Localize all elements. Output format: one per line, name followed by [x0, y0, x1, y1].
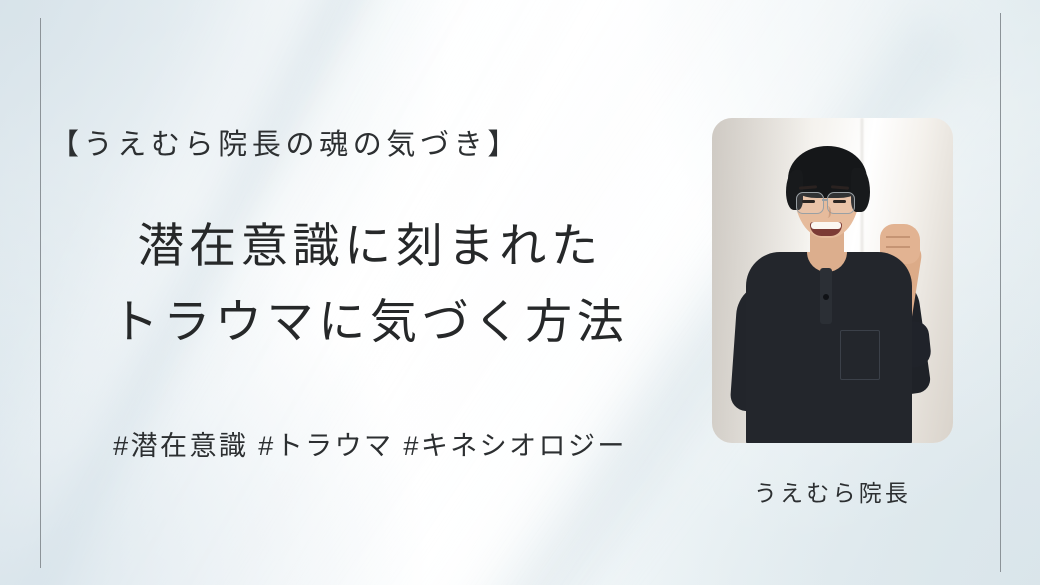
hashtag-line: #潜在意識 #トラウマ #キネシオロジー: [50, 424, 690, 463]
person-fist-crease-2: [886, 246, 910, 248]
promo-banner: 【うえむら院長の魂の気づき】 潜在意識に刻まれた トラウマに気づく方法 #潜在意…: [0, 0, 1040, 585]
glasses-right-lens-icon: [827, 192, 855, 214]
main-title: 潜在意識に刻まれた トラウマに気づく方法: [50, 208, 690, 360]
left-vertical-rule: [40, 18, 41, 568]
person-teeth: [811, 222, 841, 229]
person-left-eye: [802, 200, 815, 203]
person-shirt-pocket: [840, 330, 880, 380]
person-fist-crease-1: [886, 236, 910, 238]
eyebrow-title: 【うえむら院長の魂の気づき】: [50, 128, 521, 163]
person-figure: [712, 118, 953, 443]
glasses-left-lens-icon: [796, 192, 824, 214]
person-right-eye: [833, 200, 846, 203]
photo-caption: うえむら院長: [712, 474, 953, 508]
portrait-photo: [712, 118, 953, 443]
person-nose: [822, 206, 831, 218]
right-vertical-rule: [1000, 13, 1001, 572]
text-column: 【うえむら院長の魂の気づき】 潜在意識に刻まれた トラウマに気づく方法 #潜在意…: [50, 0, 690, 585]
main-title-line-1: 潜在意識に刻まれた: [50, 208, 690, 284]
main-title-line-2: トラウマに気づく方法: [50, 284, 690, 360]
glasses-bridge-icon: [822, 199, 827, 201]
person-shirt-button: [823, 294, 829, 300]
person-mouth: [810, 222, 842, 236]
